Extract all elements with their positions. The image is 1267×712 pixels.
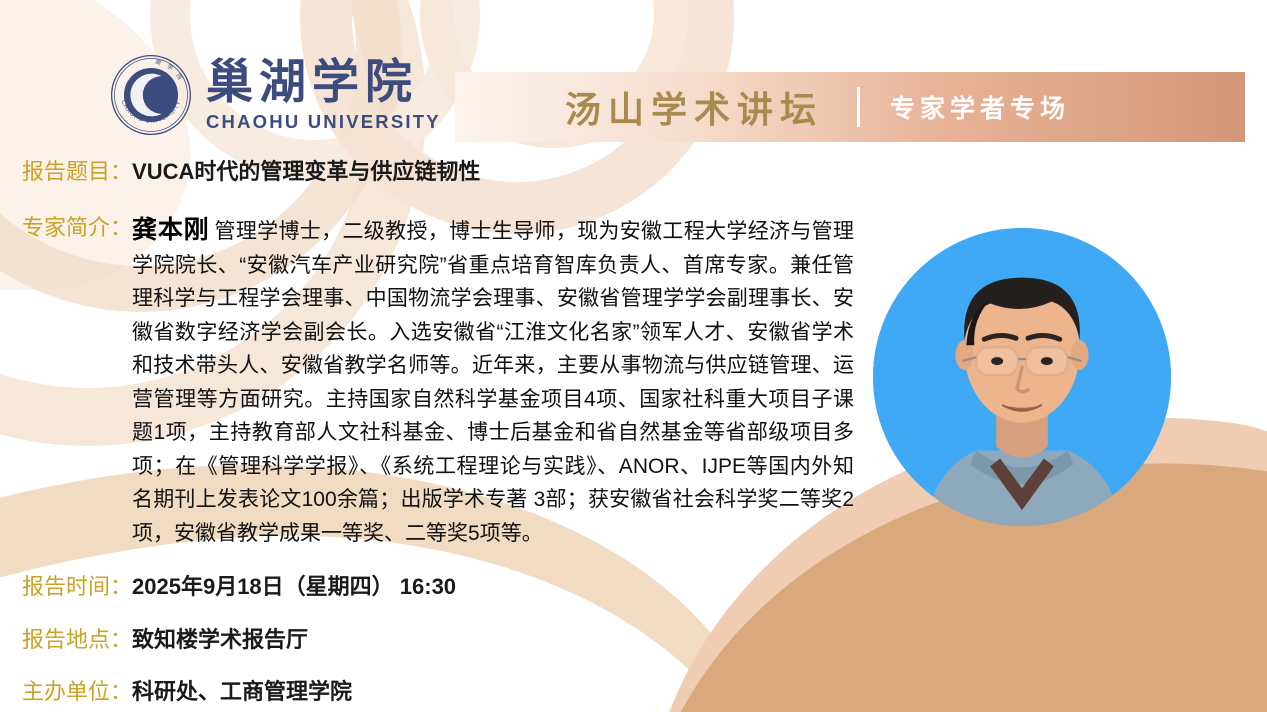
lecture-host-row: 主办单位： 科研处、工商管理学院 [22,678,352,706]
speaker-name: 龚本刚 [132,216,209,244]
lecture-title-value: VUCA时代的管理变革与供应链韧性 [132,158,480,186]
speaker-bio-text: 龚本刚管理学博士，二级教授，博士生导师，现为安徽工程大学经济与管理学院院长、“安… [132,214,854,550]
lecture-place-row: 报告地点： 致知楼学术报告厅 [22,626,308,654]
speaker-portrait [873,228,1171,526]
lecture-time-label: 报告时间： [22,573,132,601]
poster-canvas: 1977 CHAOHU UNIVERSITY 巢 湖 学 院 巢湖学院 CHAO… [0,0,1267,712]
speaker-portrait-illustration [873,228,1171,526]
lecture-host-value: 科研处、工商管理学院 [132,678,352,706]
speaker-bio-label: 专家简介： [22,214,132,242]
speaker-bio-row: 专家简介： 龚本刚管理学博士，二级教授，博士生导师，现为安徽工程大学经济与管理学… [22,214,882,550]
lecture-time-row: 报告时间： 2025年9月18日（星期四） 16:30 [22,573,456,601]
lecture-title-label: 报告题目： [22,158,132,186]
lecture-place-value: 致知楼学术报告厅 [132,626,308,654]
lecture-title-row: 报告题目： VUCA时代的管理变革与供应链韧性 [22,158,480,186]
speaker-bio-paragraph: 管理学博士，二级教授，博士生导师，现为安徽工程大学经济与管理学院院长、“安徽汽车… [132,220,854,545]
lecture-place-label: 报告地点： [22,626,132,654]
lecture-time-value: 2025年9月18日（星期四） 16:30 [132,573,456,601]
lecture-host-label: 主办单位： [22,678,132,706]
